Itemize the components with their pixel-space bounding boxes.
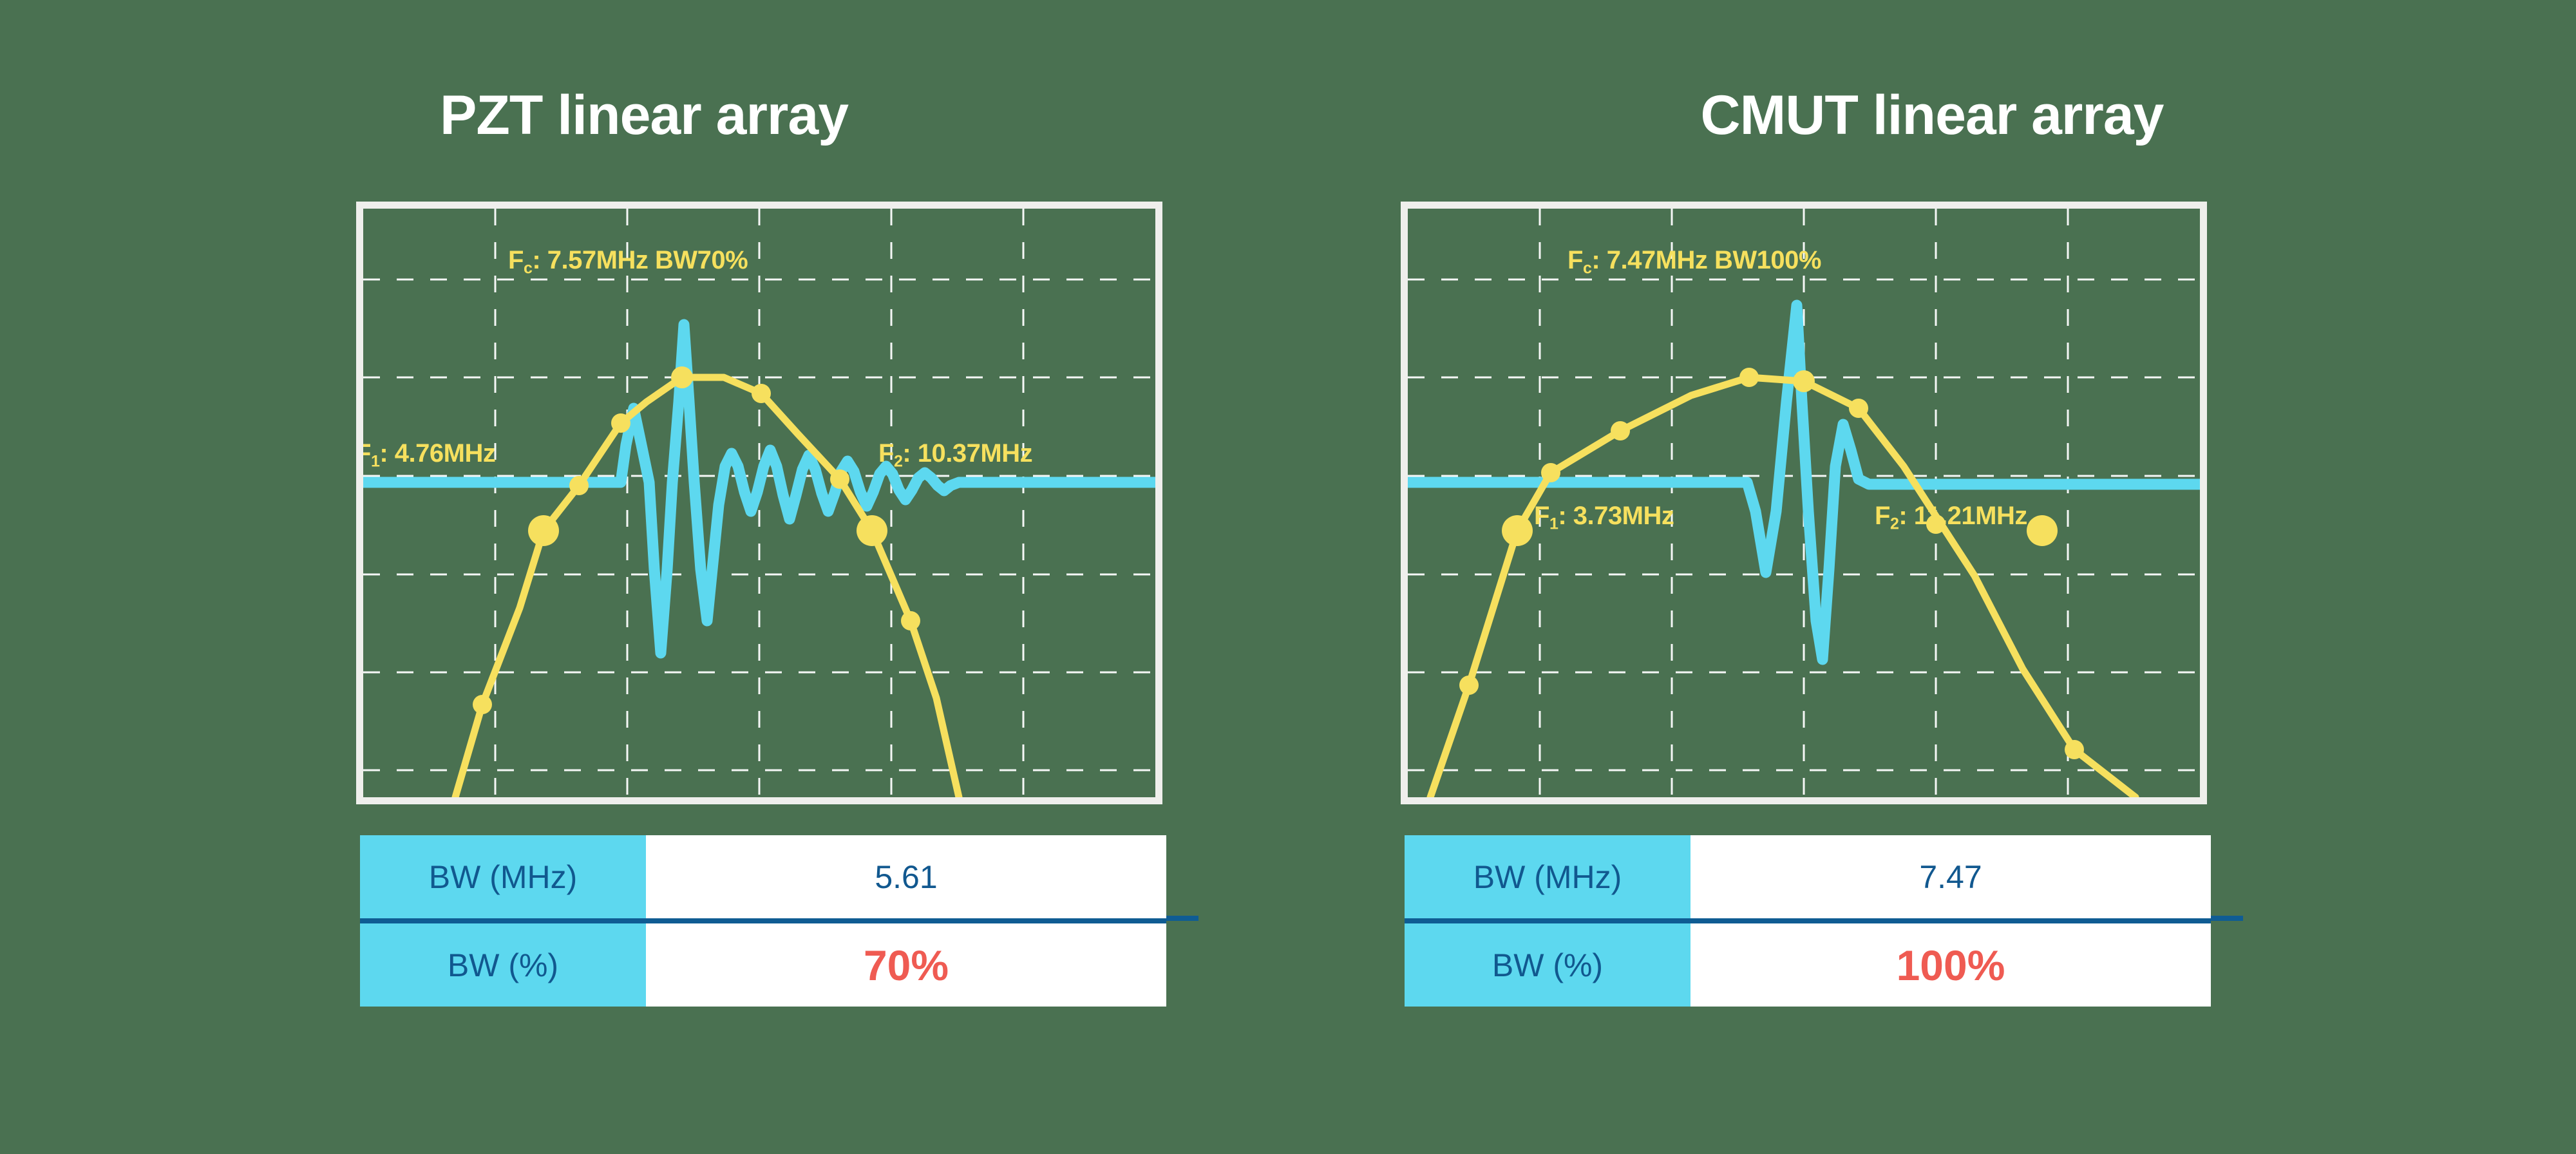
bw-pct-value-cmut: 100% [1690, 921, 2211, 1007]
chart-frame-cmut: Fc: 7.47MHz BW100% F1: 3.73MHz F2: 11.21… [1401, 202, 2207, 804]
bw-mhz-label-cmut: BW (MHz) [1405, 835, 1690, 921]
annotation-fc-cmut: Fc: 7.47MHz BW100% [1567, 246, 1821, 278]
table-row: BW (MHz) 7.47 [1405, 835, 2211, 921]
annotation-f2-cmut: F2: 11.21MHz [1875, 502, 2027, 534]
f1-value-pzt: : 4.76MHz [379, 439, 495, 468]
table-row: BW (%) 70% [360, 921, 1166, 1007]
bw-pct-label-pzt: BW (%) [360, 921, 646, 1007]
annotation-f2-pzt: F2: 10.37MHz [878, 439, 1032, 471]
fc-subscript-pzt: c [524, 260, 532, 278]
chart-frame-pzt: Fc: 7.57MHz BW70% F1: 4.76MHz F2: 10.37M… [356, 202, 1162, 804]
plot-area-cmut: Fc: 7.47MHz BW100% F1: 3.73MHz F2: 11.21… [1408, 209, 2200, 797]
impulse-response-cmut [1408, 305, 2200, 659]
bw-pct-value-pzt: 70% [646, 921, 1166, 1007]
bw-mhz-value-pzt: 5.61 [646, 835, 1166, 921]
f2-subscript-pzt: 2 [894, 453, 902, 471]
panel-title-pzt: PZT linear array [0, 84, 1288, 147]
f1-prefix-cmut: F [1534, 502, 1549, 530]
table-row: BW (MHz) 5.61 [360, 835, 1166, 921]
f1-value-cmut: : 3.73MHz [1558, 502, 1674, 530]
bw-pct-label-cmut: BW (%) [1405, 921, 1690, 1007]
fc-value-pzt: : 7.57MHz BW70% [532, 246, 748, 274]
fc-subscript-cmut: c [1583, 260, 1591, 278]
f1-prefix-pzt: F [363, 439, 371, 468]
fc-value-cmut: : 7.47MHz BW100% [1591, 246, 1821, 274]
panel-cmut: CMUT linear array [1288, 0, 2576, 1154]
panel-pzt: PZT linear array [0, 0, 1288, 1154]
chart-svg-cmut [1408, 209, 2200, 797]
fc-prefix-cmut: F [1567, 246, 1583, 274]
bw-table-pzt: BW (MHz) 5.61 BW (%) 70% [360, 835, 1166, 1007]
f1-subscript-pzt: 1 [371, 453, 379, 471]
impulse-response-pzt [363, 325, 1155, 653]
annotation-fc-pzt: Fc: 7.57MHz BW70% [508, 246, 748, 278]
bw-mhz-value-cmut: 7.47 [1690, 835, 2211, 921]
chart-svg-pzt [363, 209, 1155, 797]
plot-area-pzt: Fc: 7.57MHz BW70% F1: 4.76MHz F2: 10.37M… [363, 209, 1155, 797]
f2-value-pzt: : 10.37MHz [902, 439, 1032, 468]
f2-prefix-cmut: F [1875, 502, 1890, 530]
fc-prefix-pzt: F [508, 246, 524, 274]
f2-prefix-pzt: F [878, 439, 894, 468]
table-row: BW (%) 100% [1405, 921, 2211, 1007]
annotation-f1-cmut: F1: 3.73MHz [1534, 502, 1674, 534]
f2-subscript-cmut: 2 [1890, 515, 1899, 533]
bw-table-cmut: BW (MHz) 7.47 BW (%) 100% [1405, 835, 2211, 1007]
f2-value-cmut: : 11.21MHz [1899, 502, 2027, 530]
annotation-f1-pzt: F1: 4.76MHz [363, 439, 495, 471]
bw-mhz-label-pzt: BW (MHz) [360, 835, 646, 921]
f1-subscript-cmut: 1 [1549, 515, 1558, 533]
panel-title-cmut: CMUT linear array [1288, 84, 2576, 147]
